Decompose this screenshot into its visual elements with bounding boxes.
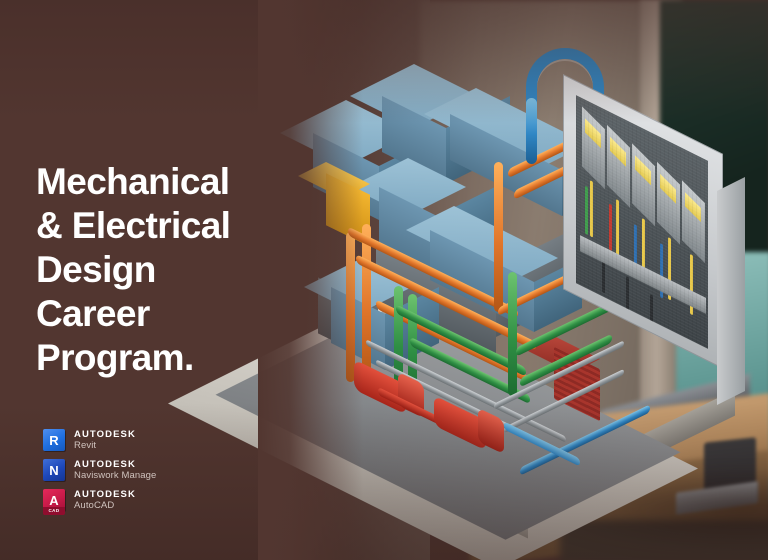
navisworks-icon: N xyxy=(43,459,65,481)
green-pipe-right-1 xyxy=(508,272,517,396)
badge-text-autocad: AUTODESK AutoCAD xyxy=(74,489,136,512)
software-badge-list: R AUTODESK Revit N AUTODESK Naviswork Ma… xyxy=(43,428,156,518)
page-title: Mechanical & Electrical Design Career Pr… xyxy=(36,160,306,380)
wire-green xyxy=(585,186,588,235)
badge-product-label: AutoCAD xyxy=(74,500,136,512)
circuit-breaker xyxy=(682,180,705,263)
software-badge-navisworks[interactable]: N AUTODESK Naviswork Manage xyxy=(43,458,156,482)
badge-product-label: Naviswork Manage xyxy=(74,470,156,482)
orange-pipe-vertical-1 xyxy=(346,232,355,382)
orange-pipe-diagonal-right xyxy=(494,162,503,312)
badge-product-label: Revit xyxy=(74,440,136,452)
software-badge-autocad[interactable]: A CAD AUTODESK AutoCAD xyxy=(43,488,156,512)
badge-brand-label: AUTODESK xyxy=(74,429,136,440)
wire-yellow xyxy=(590,180,593,237)
software-badge-revit[interactable]: R AUTODESK Revit xyxy=(43,428,156,452)
badge-text-navisworks: AUTODESK Naviswork Manage xyxy=(74,459,156,482)
revit-icon: R xyxy=(43,429,65,451)
circuit-breaker xyxy=(607,125,630,208)
revit-icon-letter: R xyxy=(49,434,58,447)
electrical-cabinet-side xyxy=(717,177,745,405)
badge-brand-label: AUTODESK xyxy=(74,459,156,470)
circuit-breaker xyxy=(632,143,655,226)
blue-conduit-left-leg xyxy=(526,98,537,164)
autocad-icon: A CAD xyxy=(43,489,65,511)
mep-3d-illustration xyxy=(258,36,758,526)
headline-line-4: Career xyxy=(36,292,306,336)
autocad-icon-letter: A xyxy=(49,494,58,507)
headline-line-3: Design xyxy=(36,248,306,292)
headline-line-1: Mechanical xyxy=(36,160,306,204)
orange-pipe-vertical-2 xyxy=(362,224,371,382)
wire-red xyxy=(609,204,612,251)
wire-yellow xyxy=(616,199,619,258)
circuit-breaker xyxy=(657,162,680,245)
headline-line-5: Program. xyxy=(36,336,306,380)
banner-stage: Mechanical & Electrical Design Career Pr… xyxy=(0,0,768,560)
headline-line-2: & Electrical xyxy=(36,204,306,248)
badge-text-revit: AUTODESK Revit xyxy=(74,429,136,452)
autocad-icon-sublabel: CAD xyxy=(43,507,65,515)
navisworks-icon-letter: N xyxy=(49,464,58,477)
badge-brand-label: AUTODESK xyxy=(74,489,136,500)
wire-black xyxy=(626,276,629,311)
circuit-breaker xyxy=(582,106,605,189)
